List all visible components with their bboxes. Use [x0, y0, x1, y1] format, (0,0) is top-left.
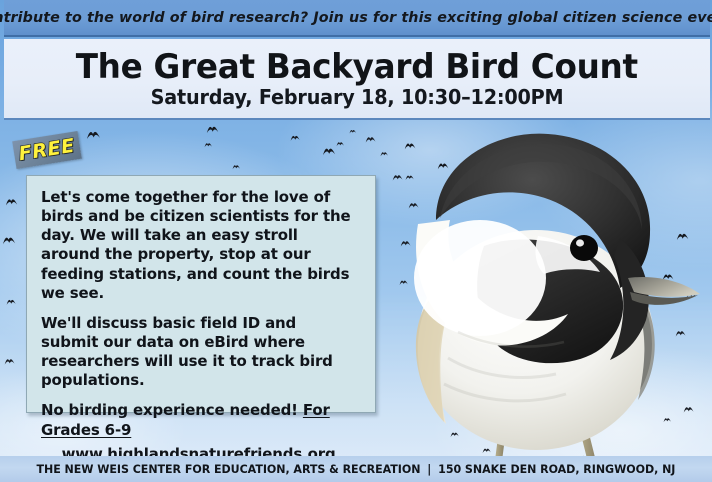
- description-paragraph-3: No birding experience needed! For Grades…: [41, 401, 356, 439]
- flying-bird-icon: [206, 123, 220, 136]
- bird-eye: [570, 235, 598, 261]
- venue-name: THE NEW WEIS CENTER FOR EDUCATION, ARTS …: [37, 463, 421, 476]
- venue-address: 150 SNAKE DEN ROAD, RINGWOOD, NJ: [438, 463, 675, 476]
- flying-bird-icon: [322, 145, 337, 158]
- description-paragraph-1: Let's come together for the love of bird…: [41, 188, 356, 303]
- bird-beak: [628, 277, 700, 305]
- page-title: The Great Backyard Bird Count: [76, 50, 638, 84]
- flying-bird-icon: [349, 128, 357, 135]
- free-badge-label: FREE: [17, 135, 76, 166]
- flying-bird-icon: [5, 196, 19, 208]
- flying-bird-icon: [4, 356, 16, 367]
- bird-count-flyer: Contribute to the world of bird research…: [0, 0, 712, 482]
- no-experience-text: No birding experience needed!: [41, 401, 303, 419]
- event-datetime: Saturday, February 18, 10:30–12:00PM: [151, 87, 564, 107]
- flying-bird-icon: [204, 141, 213, 149]
- title-banner: The Great Backyard Bird Count Saturday, …: [4, 39, 710, 120]
- tagline-text: Contribute to the world of bird research…: [0, 10, 712, 26]
- flying-bird-icon: [336, 140, 345, 148]
- flying-bird-icon: [2, 234, 17, 247]
- flying-bird-icon: [290, 133, 301, 143]
- footer-venue-address: THE NEW WEIS CENTER FOR EDUCATION, ARTS …: [37, 463, 676, 476]
- chickadee-bird-image: [388, 128, 712, 478]
- flying-bird-icon: [6, 297, 17, 307]
- footer-banner: THE NEW WEIS CENTER FOR EDUCATION, ARTS …: [0, 456, 712, 482]
- flying-bird-icon: [86, 128, 102, 142]
- flying-bird-icon: [232, 163, 241, 171]
- footer-separator: |: [420, 463, 438, 476]
- description-paragraph-2: We'll discuss basic field ID and submit …: [41, 314, 356, 391]
- event-description-box: Let's come together for the love of bird…: [26, 175, 376, 413]
- flying-bird-icon: [365, 134, 377, 145]
- tagline-banner: Contribute to the world of bird research…: [4, 0, 710, 37]
